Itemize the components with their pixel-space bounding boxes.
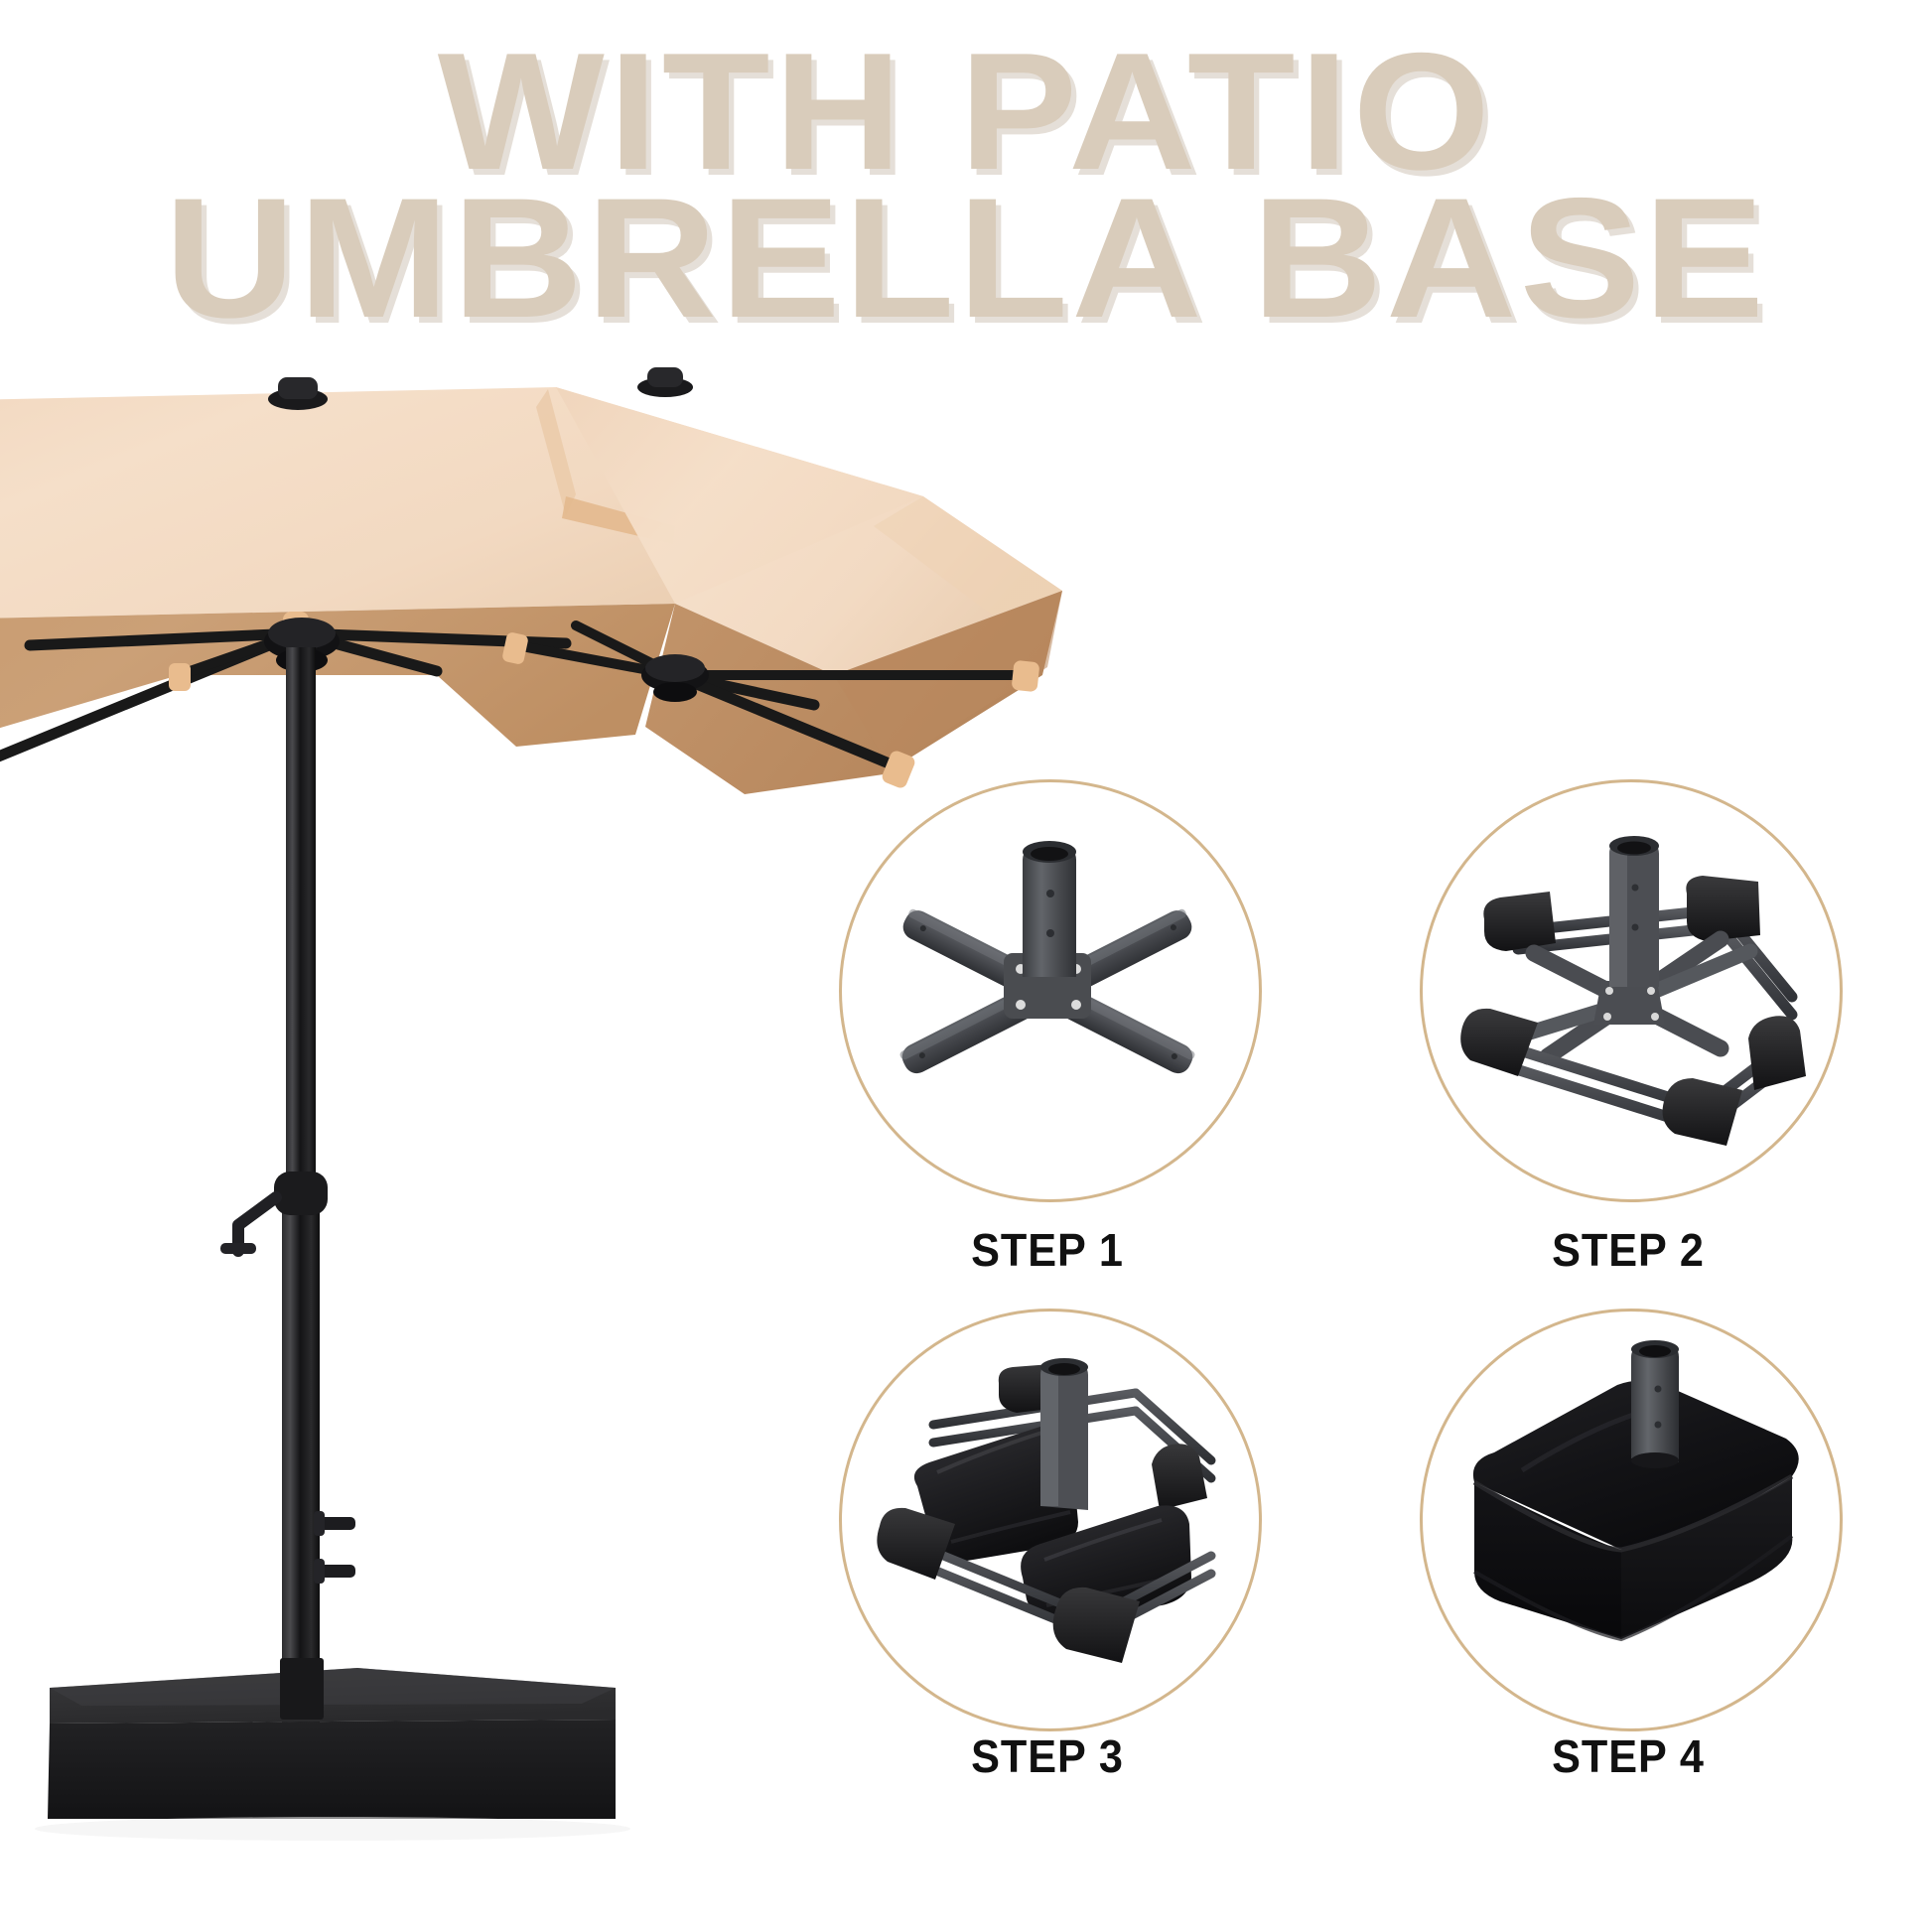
assembled-frame-icon: [1423, 782, 1840, 1199]
cross-base-icon: [842, 782, 1259, 1199]
step-4-label: STEP 4: [1433, 1729, 1825, 1783]
step-2-label: STEP 2: [1433, 1223, 1825, 1277]
pole-pin-clip-lower: [314, 1559, 355, 1584]
step-1-label: STEP 1: [852, 1223, 1244, 1277]
canopy-finial-left: [268, 377, 328, 410]
headline-line-1: WITH PATIO: [0, 38, 1932, 185]
page-title: WITH PATIO UMBRELLA BASE: [0, 38, 1932, 332]
canopy-finial-right: [637, 367, 693, 397]
step-3-circle: [839, 1309, 1262, 1731]
step-4-circle: [1420, 1309, 1843, 1731]
headline-line-2: UMBRELLA BASE: [0, 185, 1932, 332]
umbrella-base-block: [35, 1658, 630, 1841]
step-3-label: STEP 3: [852, 1729, 1244, 1783]
infographic-canvas: WITH PATIO UMBRELLA BASE: [0, 0, 1932, 1932]
filled-frame-icon: [842, 1311, 1259, 1728]
step-1-circle: [839, 779, 1262, 1202]
pole-pin-clip-upper: [314, 1511, 355, 1536]
step-2-circle: [1420, 779, 1843, 1202]
finished-base-icon: [1423, 1311, 1840, 1728]
